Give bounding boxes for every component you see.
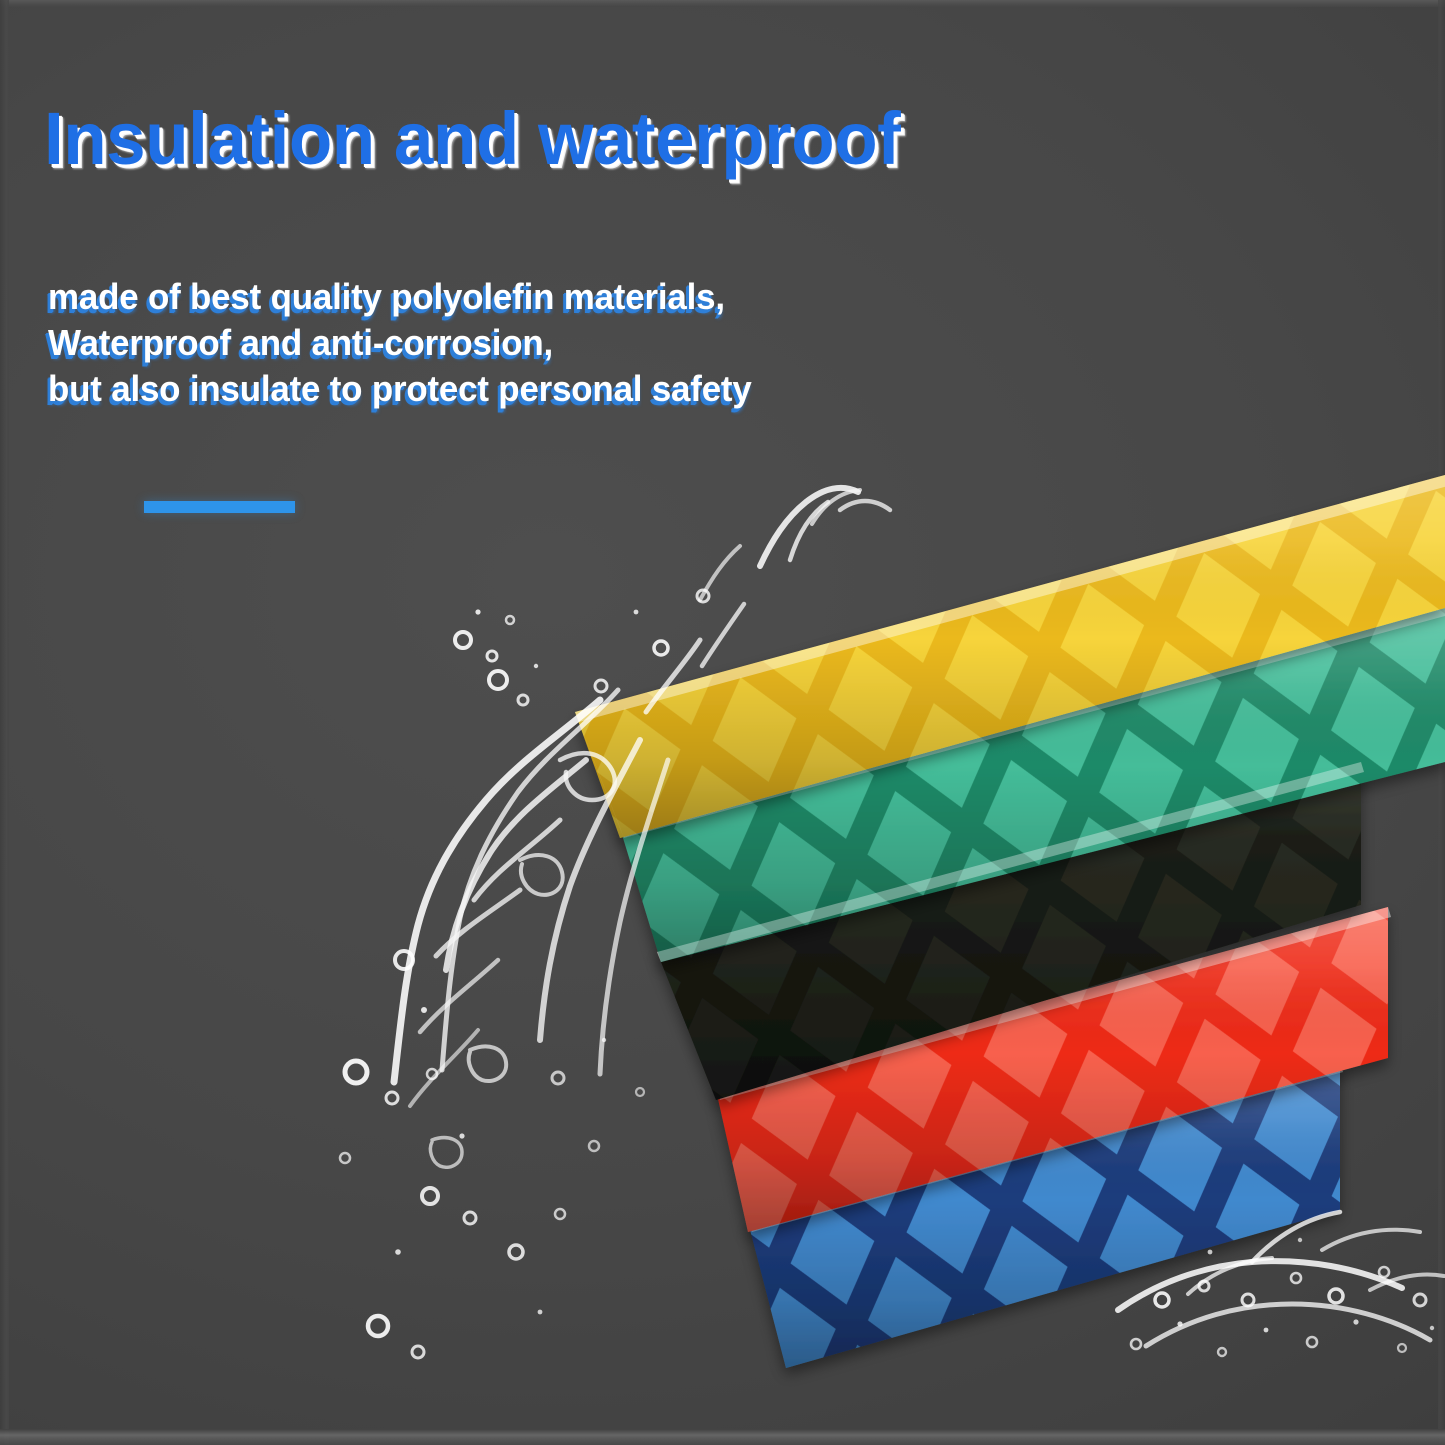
product-tube-stack: [0, 0, 1445, 1445]
product-marketing-banner: Insulation and waterproof made of best q…: [0, 0, 1445, 1445]
background-bottom-edge: [0, 1429, 1445, 1445]
accent-divider-bar: [144, 501, 295, 513]
page-title: Insulation and waterproof: [44, 96, 900, 181]
description-line-3: but also insulate to protect personal sa…: [48, 366, 752, 412]
product-description: made of best quality polyolefin material…: [48, 274, 752, 412]
description-line-2: Waterproof and anti-corrosion,: [48, 320, 752, 366]
description-line-1: made of best quality polyolefin material…: [48, 274, 752, 320]
